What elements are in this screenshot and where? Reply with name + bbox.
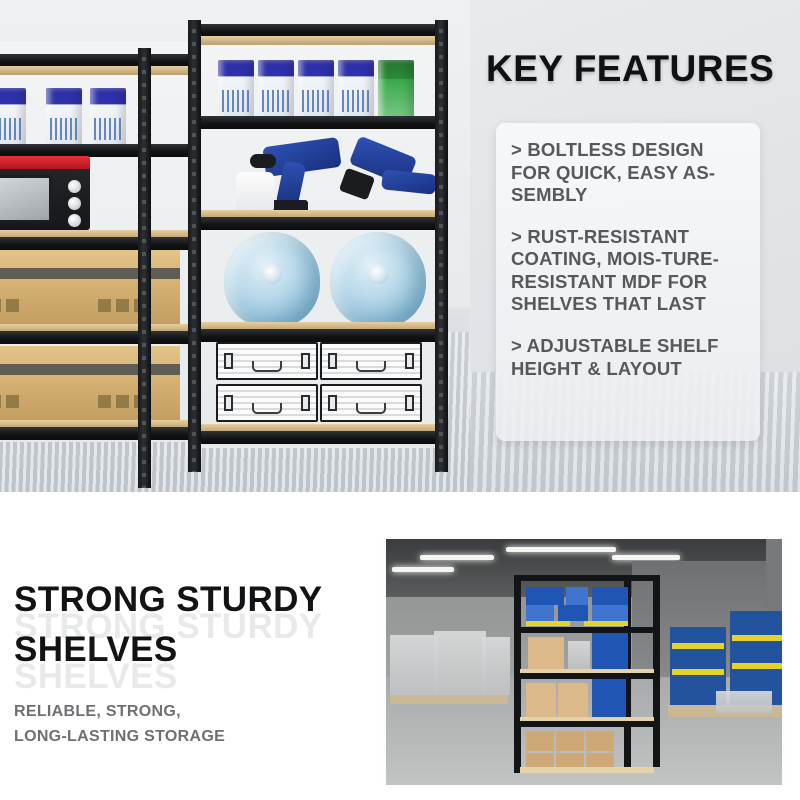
wrapped-pallet [482,637,510,695]
paint-sprayer [234,136,344,214]
warehouse-box [526,731,554,751]
heat-gun [338,142,438,214]
paint-can [46,88,82,150]
warehouse-rack-beam [514,673,660,679]
rack-beam [188,217,448,230]
rack-beam [0,427,210,440]
ceiling-light [392,567,454,572]
product-scene [0,0,470,492]
top-panel: KEY FEATURES > BOLTLESS DESIGN FOR QUICK… [0,0,800,492]
blue-bin [526,587,564,605]
bin-label-strip [732,663,785,669]
warehouse-rack-beam [514,575,660,581]
blue-bin [592,633,628,669]
rack-beam [0,331,210,344]
sturdy-headline-line2: SHELVES [14,625,374,675]
paint-can [0,88,26,150]
rack-beam [0,237,210,250]
sturdy-headline: STRONG STURDY SHELVES [14,575,374,674]
warehouse-rack-beam [514,627,660,633]
warehouse-rack-beam [514,721,660,727]
key-features-section: KEY FEATURES > BOLTLESS DESIGN FOR QUICK… [470,0,800,492]
warehouse-wrapped-goods [568,641,590,669]
blue-bin [592,587,628,605]
rack-shelf-board [196,36,440,45]
ceiling-light [612,555,680,560]
bin-label-strip [672,669,724,675]
sturdy-subtitle: RELIABLE, STRONG, LONG-LASTING STORAGE [14,700,344,750]
warehouse-shelving-unit [514,575,660,773]
warehouse-box [558,683,588,717]
tool-case [320,384,422,422]
blue-bin [592,605,628,621]
product-marketing-image: KEY FEATURES > BOLTLESS DESIGN FOR QUICK… [0,0,800,800]
feature-item-rust-resistant-coating: > RUST-RESISTANT COATING, MOIS-TURE-RESI… [511,226,745,316]
ceiling-light [420,555,494,560]
paint-can [338,60,374,122]
tool-case [216,384,318,422]
feature-item-boltless-design: > BOLTLESS DESIGN FOR QUICK, EASY AS-SEM… [511,139,745,207]
sturdy-subtitle-line1: RELIABLE, STRONG, [14,700,344,725]
bottom-section: STRONG STURDY SHELVES RELIABLE, STRONG, … [0,492,800,800]
shelving-unit-right [188,10,448,472]
blue-bin [566,587,588,605]
warehouse-photo [383,536,785,788]
bin-label-strip [526,621,570,626]
blue-bin [526,605,554,621]
key-features-title: KEY FEATURES [486,48,774,90]
bin-label-strip [584,621,628,626]
blue-bin [558,605,588,621]
paint-can [378,60,414,122]
warehouse-box [586,731,614,751]
shelving-unit-left [0,28,210,468]
sturdy-subtitle-line2: LONG-LASTING STORAGE [14,725,344,750]
blue-bin [592,679,626,717]
rack-beam [188,116,448,129]
toaster-oven [0,156,90,230]
wrapped-pallet [716,691,772,713]
rack-post [188,20,201,472]
key-features-card: > BOLTLESS DESIGN FOR QUICK, EASY AS-SEM… [496,123,760,441]
paint-can [90,88,126,150]
rack-post [138,48,151,488]
wrapped-pallet [434,631,486,697]
rack-post [435,20,448,472]
rack-beam [188,329,448,342]
bin-label-strip [732,635,785,641]
paint-can [218,60,254,122]
feature-item-adjustable-shelf-height: > ADJUSTABLE SHELF HEIGHT & LAYOUT [511,335,745,380]
wrapped-pallet [390,635,438,697]
pallet [390,695,508,704]
rack-beam [188,431,448,444]
bin-label-strip [672,643,724,649]
cardboard-box [0,250,180,324]
rack-shelf-board [0,66,210,75]
warehouse-box [556,731,584,751]
warehouse-box [528,637,564,669]
sturdy-headline-line1: STRONG STURDY [14,575,374,625]
water-jug [330,232,426,328]
tool-case [320,342,422,380]
cardboard-box [0,346,180,420]
warehouse-shelf-board [520,767,654,773]
warehouse-box [526,683,556,717]
ceiling-light [506,547,616,552]
paint-can [298,60,334,122]
tool-case [216,342,318,380]
water-jug [224,232,320,328]
paint-can [258,60,294,122]
